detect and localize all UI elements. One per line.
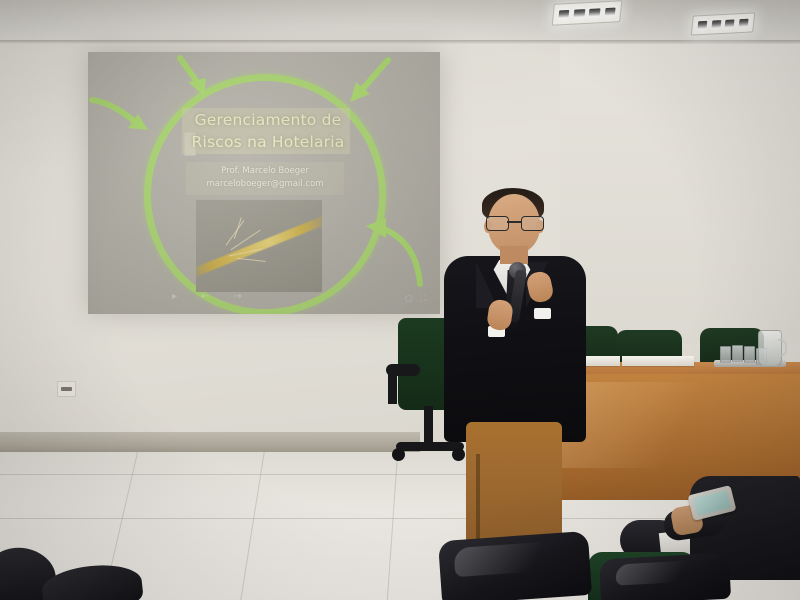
presenter-cuff-right [534, 308, 551, 319]
smartphone-screen [693, 490, 730, 516]
table-documents-mid [622, 356, 694, 366]
ceiling-light-left [552, 0, 623, 26]
fullscreen-icon[interactable]: ⛶ [420, 295, 426, 304]
presentation-toolbar[interactable]: ▸ ← → [172, 290, 362, 304]
arrow-top-left-icon [174, 56, 214, 102]
slide-rope-image [196, 200, 322, 292]
ceiling-light-right-lamps [697, 19, 749, 30]
presenter-speaking [430, 186, 598, 580]
slide-author-block: Prof. Marcelo Boeger marceloboeger@gmail… [186, 165, 344, 191]
glasses-icon [486, 216, 542, 229]
prev-slide-icon[interactable]: ← [201, 292, 209, 302]
arrow-right-icon [360, 212, 426, 286]
presenter-neck [500, 246, 528, 264]
rope-fray [222, 219, 289, 273]
slide-presenter-email: marceloboeger@gmail.com [186, 178, 344, 191]
glass-2 [732, 345, 743, 362]
slide-title: Gerenciamento de Riscos na Hotelaria [180, 109, 356, 153]
presenter-trousers [466, 422, 562, 550]
next-slide-icon[interactable]: → [233, 292, 241, 302]
slide-presenter-name: Prof. Marcelo Boeger [186, 165, 344, 178]
pointer-icon[interactable]: ▸ [172, 292, 177, 302]
settings-icon[interactable]: ○ [405, 295, 413, 304]
foreground-chair-center [438, 531, 592, 600]
water-pitcher [758, 330, 782, 366]
projected-slide: Gerenciamento de Riscos na Hotelaria Pro… [88, 52, 440, 314]
stone-baseboard [0, 432, 420, 454]
glass-1 [720, 346, 731, 363]
presentation-toolbar-right[interactable]: ○ ⛶ [405, 295, 426, 304]
ceiling-light-right [691, 12, 756, 35]
arrow-top-right-icon [340, 58, 392, 108]
slide-title-line-1: Gerenciamento de [180, 109, 356, 131]
arrow-left-icon [90, 96, 156, 138]
glass-3 [744, 346, 755, 363]
office-chair-armrest [386, 364, 420, 376]
ceiling-light-left-lamps [559, 7, 616, 19]
room-photo-scene: Gerenciamento de Riscos na Hotelaria Pro… [0, 0, 800, 600]
presenter-trouser-seam [476, 454, 480, 550]
office-chair-wheel-left [392, 448, 405, 461]
wall-socket-icon [57, 381, 76, 397]
slide-title-line-2: Riscos na Hotelaria [180, 131, 356, 153]
foreground-chair-right [599, 553, 731, 600]
